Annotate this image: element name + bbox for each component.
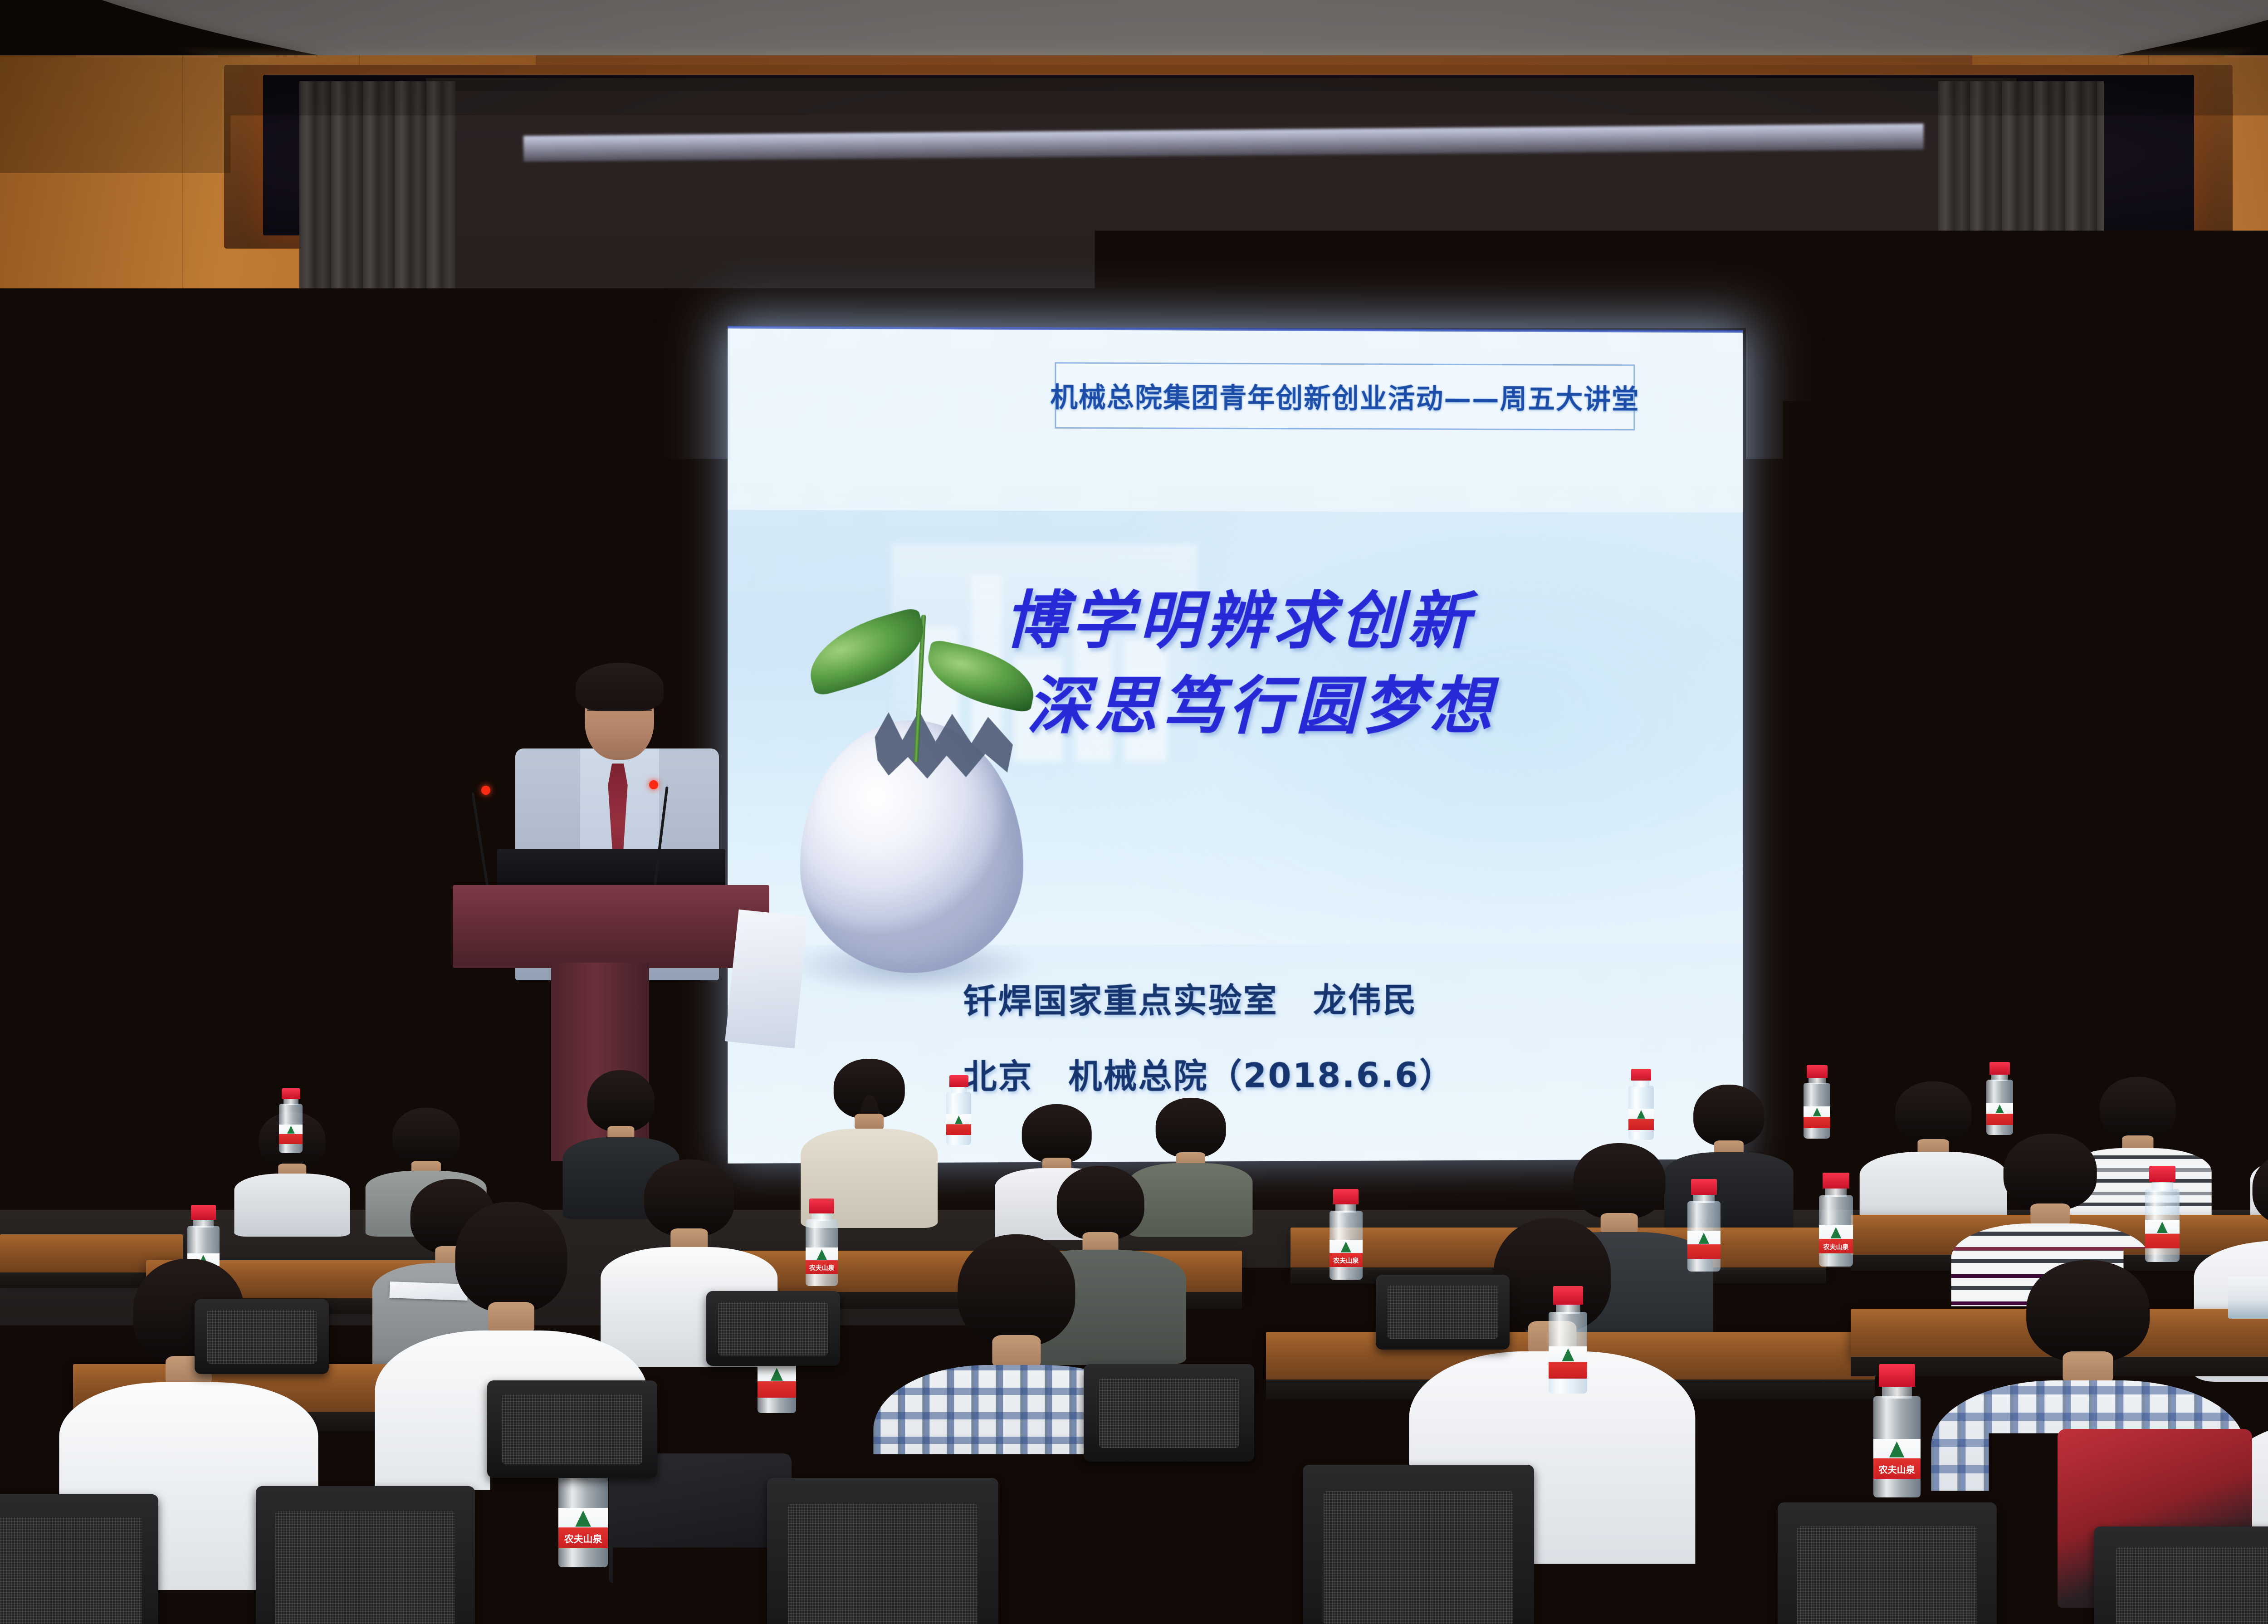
lecture-hall-photo: 机械总院集团2018年第三期周五大讲堂 机械总院集团青年创新创业活动——周五大讲…: [0, 0, 2268, 1624]
slide-presenter-line: 钎焊国家重点实验室 龙伟民: [963, 973, 1418, 1023]
water-bottle[interactable]: [278, 1088, 304, 1153]
bottle-brand-cn: 农夫山泉: [1817, 1244, 1856, 1251]
stage-curtain-right: [1938, 81, 2104, 1202]
chair[interactable]: [256, 1486, 475, 1624]
bottle-cap: [282, 1088, 300, 1099]
chair[interactable]: [2094, 1526, 2268, 1624]
bottle-cap: [1333, 1189, 1359, 1204]
water-bottle[interactable]: [2143, 1166, 2182, 1262]
chair[interactable]: [1376, 1275, 1510, 1350]
mic-indicator-led-right: [649, 780, 658, 789]
bottle-brand-cn: 农夫山泉: [555, 1535, 611, 1544]
tissue-box[interactable]: [2228, 1277, 2268, 1319]
bottle-brand-cn: 农夫山泉: [5, 1132, 32, 1137]
water-bottle[interactable]: [1546, 1286, 1590, 1393]
bottle-cap: [809, 1198, 834, 1213]
bottle-cap: [1691, 1179, 1717, 1195]
table-row: [0, 1117, 231, 1148]
ptz-camera: [1858, 702, 1906, 765]
water-bottle[interactable]: [1685, 1179, 1723, 1272]
bottle-brand-cn: 农夫山泉: [1327, 1258, 1365, 1264]
water-bottle[interactable]: [945, 1075, 973, 1145]
podium-top: [453, 885, 769, 968]
bottle-cap: [1417, 1072, 1437, 1084]
bottle-cap: [1300, 1416, 1340, 1440]
chair[interactable]: [767, 1478, 998, 1624]
chair[interactable]: [0, 1494, 158, 1624]
chair[interactable]: [706, 1291, 840, 1366]
speaker-hair: [576, 663, 664, 711]
slide-title: 博学明辨求创新 深思笃行圆梦想: [1004, 577, 1693, 748]
bottle-cap: [1553, 1286, 1583, 1304]
slide-title-line-2: 深思笃行圆梦想: [1004, 663, 1693, 748]
slide-header-text: 机械总院集团青年创新创业活动——周五大讲堂: [1051, 376, 1640, 417]
chair[interactable]: [487, 1380, 658, 1478]
chair[interactable]: [1084, 1364, 1254, 1462]
slide-location-date-line: 北京 机械总院（2018.6.6）: [963, 1048, 1455, 1098]
water-bottle[interactable]: 农夫山泉: [1870, 1364, 1924, 1497]
water-bottle[interactable]: [1802, 1065, 1832, 1138]
bottle-brand-cn: 农夫山泉: [1870, 1465, 1924, 1474]
bottle-cap: [1823, 1173, 1849, 1189]
water-bottle[interactable]: 农夫山泉: [1327, 1189, 1365, 1280]
bottle-cap: [1631, 1069, 1651, 1081]
chair[interactable]: [1668, 1340, 1838, 1438]
water-bottle[interactable]: 农夫山泉: [5, 1081, 32, 1148]
bottle-cap: [2149, 1166, 2175, 1182]
bottle-cap: [191, 1205, 216, 1219]
slide-header-box: 机械总院集团青年创新创业活动——周五大讲堂: [1055, 362, 1635, 430]
bottle-brand-cn: 农夫山泉: [803, 1265, 840, 1272]
bottle-cap: [1807, 1065, 1828, 1077]
bottle-cap: [1879, 1364, 1915, 1387]
projection-screen: 机械总院集团青年创新创业活动——周五大讲堂 博学明辨求创新 深思笃行圆梦想 钎焊…: [728, 326, 1743, 1163]
bottle-cap: [1989, 1062, 2010, 1074]
slide-title-line-1: 博学明辨求创新: [1004, 577, 1693, 663]
glasses-icon: [587, 709, 652, 723]
bottle-cap: [9, 1081, 27, 1093]
water-bottle[interactable]: [1412, 1072, 1441, 1144]
water-bottle[interactable]: [1984, 1062, 2015, 1135]
chair[interactable]: [1303, 1465, 1534, 1624]
chair[interactable]: [195, 1299, 328, 1374]
podium-papers: [725, 910, 808, 1049]
water-bottle[interactable]: 农夫山泉: [1817, 1173, 1856, 1267]
chair[interactable]: [1778, 1502, 1997, 1624]
water-bottle[interactable]: 农夫山泉: [803, 1198, 840, 1286]
bottle-cap: [949, 1075, 968, 1087]
water-bottle[interactable]: [1627, 1069, 1656, 1140]
presentation-slide: 机械总院集团青年创新创业活动——周五大讲堂 博学明辨求创新 深思笃行圆梦想 钎焊…: [728, 326, 1743, 1163]
stage-curtain-left: [299, 81, 455, 1202]
table-row: [0, 1146, 231, 1161]
camera-lens-icon: [1877, 712, 1897, 737]
